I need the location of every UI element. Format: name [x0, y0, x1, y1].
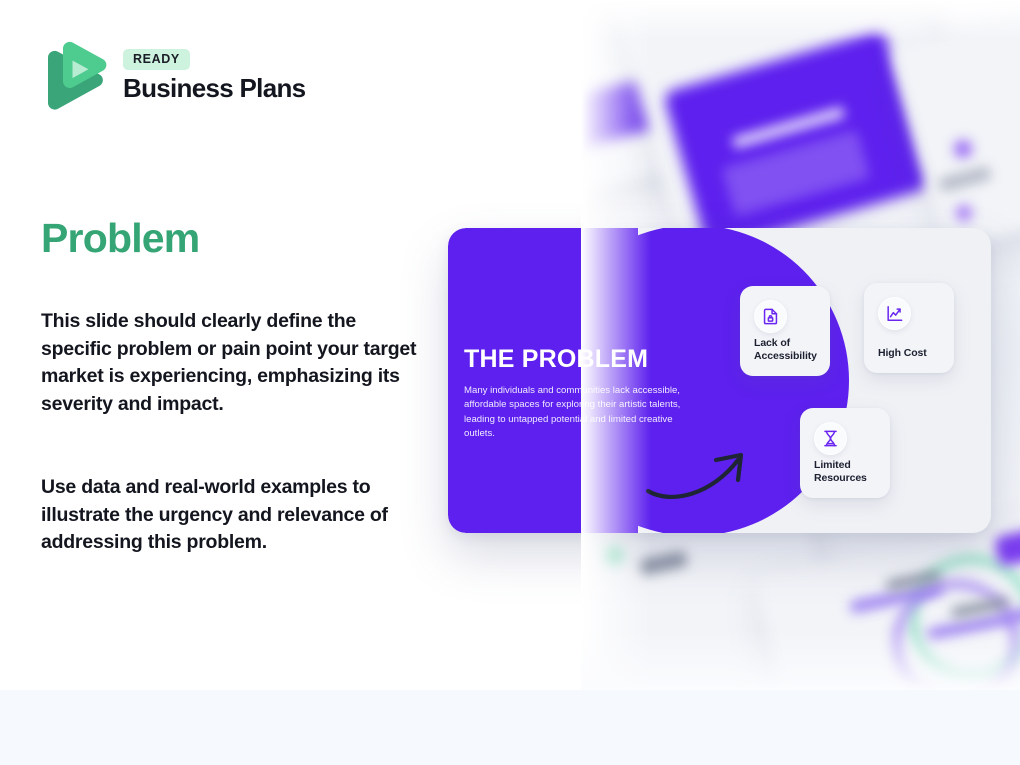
slide-preview-page: THE PROBLEM Many individuals and communi…: [0, 0, 1020, 765]
feature-card-lack-of-accessibility[interactable]: Lack of Accessibility: [740, 286, 830, 376]
feature-card-label: Lack of Accessibility: [754, 337, 817, 363]
feature-label-line-1: Lack of: [754, 337, 790, 349]
panel-body: Many individuals and communities lack ac…: [464, 384, 686, 442]
feature-card-limited-resources[interactable]: Limited Resources: [800, 408, 890, 498]
play-triangle-logo: [41, 40, 109, 112]
brand-name: Business Plans: [123, 74, 305, 103]
document-lock-icon: [754, 300, 787, 333]
hourglass-icon: [814, 422, 847, 455]
feature-label-line-2: Accessibility: [754, 350, 817, 362]
background-chip-purple-dot: [954, 140, 972, 158]
brand-header: READY Business Plans: [41, 40, 305, 112]
feature-label-line-2: Resources: [814, 472, 867, 484]
feature-label-line-1: High Cost: [878, 347, 927, 359]
description-paragraph-2: Use data and real-world examples to illu…: [41, 474, 426, 557]
brand-text-block: READY Business Plans: [123, 49, 305, 103]
feature-card-label: High Cost: [878, 347, 927, 360]
feature-card-label: Limited Resources: [814, 459, 867, 485]
bottom-band: [0, 690, 1020, 765]
panel-text-block: THE PROBLEM Many individuals and communi…: [464, 346, 686, 442]
problem-slide-card[interactable]: THE PROBLEM Many individuals and communi…: [448, 228, 991, 533]
panel-title: THE PROBLEM: [464, 346, 686, 373]
feature-label-line-1: Limited: [814, 459, 851, 471]
backdrop-bottom-fade: [581, 630, 1020, 690]
line-chart-icon: [878, 297, 911, 330]
ready-badge: READY: [123, 49, 190, 70]
background-chip-purple-dot-2: [956, 205, 972, 221]
description-paragraph-1: This slide should clearly define the spe…: [41, 308, 426, 419]
backdrop-left-fade: [581, 0, 651, 690]
page-title: Problem: [41, 218, 199, 259]
feature-card-high-cost[interactable]: High Cost: [864, 283, 954, 373]
backdrop-top-fade: [581, 0, 1020, 40]
